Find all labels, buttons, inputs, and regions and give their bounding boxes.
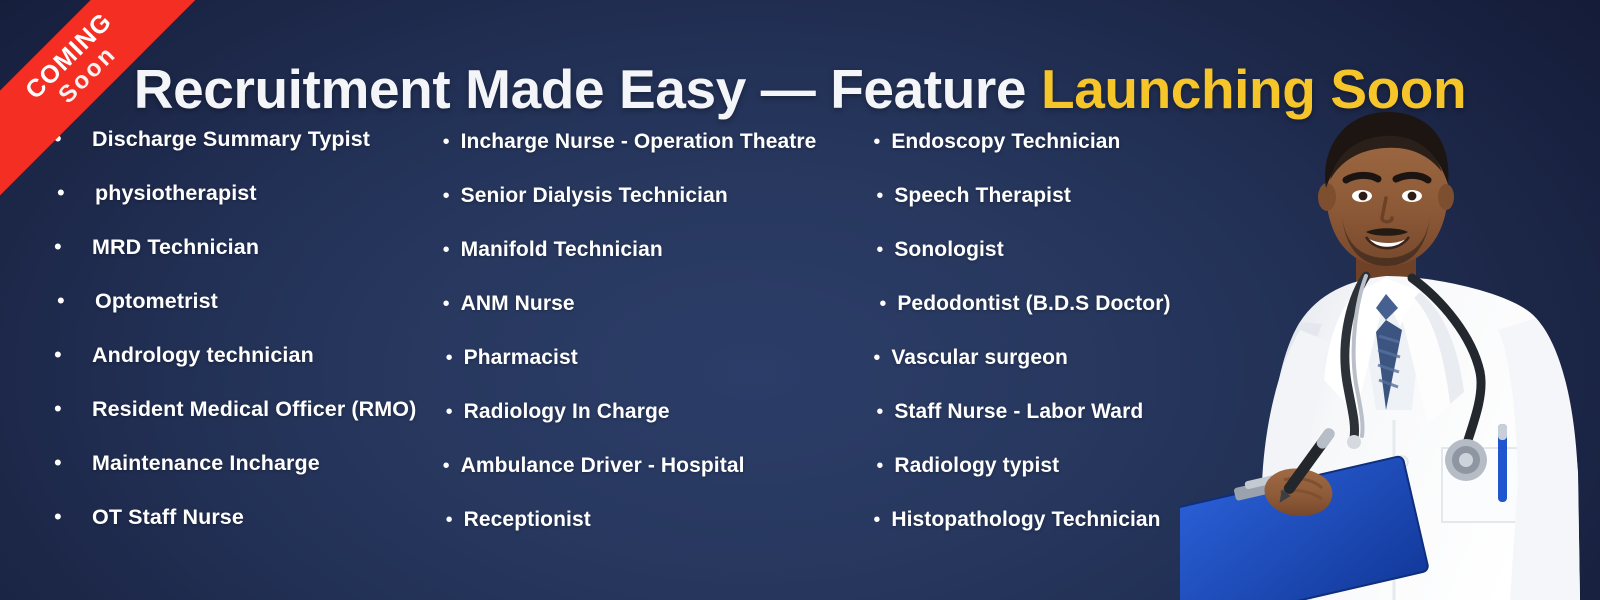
bullet-icon: • (54, 398, 92, 420)
title-main-text: Recruitment Made Easy — Feature (134, 58, 1041, 120)
job-role-label: Senior Dialysis Technician (461, 184, 728, 208)
job-role-label: Vascular surgeon (891, 346, 1068, 370)
list-item: •Andrology technician (54, 343, 437, 397)
job-role-label: Sonologist (894, 238, 1004, 262)
job-role-label: Pharmacist (464, 346, 578, 370)
bullet-icon: • (446, 510, 464, 530)
list-item: •Receptionist (443, 508, 860, 562)
bullet-icon: • (54, 506, 92, 528)
job-role-label: Histopathology Technician (891, 508, 1160, 532)
bullet-icon: • (443, 240, 461, 260)
job-role-label: Maintenance Incharge (92, 451, 320, 476)
bullet-icon: • (876, 240, 894, 260)
list-item: •Maintenance Incharge (54, 451, 437, 505)
list-item: •ANM Nurse (443, 292, 860, 346)
job-role-label: Ambulance Driver - Hospital (461, 454, 745, 478)
bullet-icon: • (873, 348, 891, 368)
list-item: •Radiology In Charge (443, 400, 860, 454)
list-item: •Optometrist (54, 289, 437, 343)
list-item: •Ambulance Driver - Hospital (443, 454, 860, 508)
job-role-label: Staff Nurse - Labor Ward (894, 400, 1143, 424)
bullet-icon: • (443, 294, 461, 314)
bullet-icon: • (446, 402, 464, 422)
job-role-label: Radiology typist (894, 454, 1059, 478)
list-item: •Incharge Nurse - Operation Theatre (443, 130, 860, 184)
coming-soon-ribbon: COMING Soon (0, 0, 230, 230)
doctor-photo (1180, 80, 1600, 600)
job-role-label: Pedodontist (B.D.S Doctor) (897, 292, 1170, 316)
list-item: •Pharmacist (443, 346, 860, 400)
job-role-label: Speech Therapist (894, 184, 1071, 208)
job-role-label: Radiology In Charge (464, 400, 670, 424)
bullet-icon: • (443, 456, 461, 476)
job-role-label: Optometrist (95, 289, 218, 314)
job-role-label: Incharge Nurse - Operation Theatre (461, 130, 817, 154)
bullet-icon: • (446, 348, 464, 368)
job-role-label: MRD Technician (92, 235, 259, 260)
bullet-icon: • (54, 452, 92, 474)
bullet-icon: • (443, 186, 461, 206)
list-item: •OT Staff Nurse (54, 505, 437, 559)
ribbon-band: COMING Soon (0, 0, 210, 197)
bullet-icon: • (876, 186, 894, 206)
job-role-label: Andrology technician (92, 343, 314, 368)
job-role-label: ANM Nurse (461, 292, 575, 316)
bullet-icon: • (873, 132, 891, 152)
list-item: •Manifold Technician (443, 238, 860, 292)
bullet-icon: • (876, 456, 894, 476)
promo-banner: COMING Soon Recruitment Made Easy — Feat… (0, 0, 1600, 600)
job-role-label: Endoscopy Technician (891, 130, 1120, 154)
job-role-label: Receptionist (464, 508, 591, 532)
bullet-icon: • (57, 290, 95, 312)
list-item: •Senior Dialysis Technician (443, 184, 860, 238)
bullet-icon: • (879, 294, 897, 314)
bullet-icon: • (54, 236, 92, 258)
bullet-icon: • (873, 510, 891, 530)
list-item: •Resident Medical Officer (RMO) (54, 397, 437, 451)
bullet-icon: • (876, 402, 894, 422)
bullet-icon: • (54, 344, 92, 366)
job-role-label: Manifold Technician (461, 238, 663, 262)
list-item: •MRD Technician (54, 235, 437, 289)
job-column-2: •Incharge Nurse - Operation Theatre •Sen… (437, 118, 860, 568)
job-role-label: OT Staff Nurse (92, 505, 244, 530)
bullet-icon: • (443, 132, 461, 152)
job-role-label: Resident Medical Officer (RMO) (92, 397, 416, 422)
